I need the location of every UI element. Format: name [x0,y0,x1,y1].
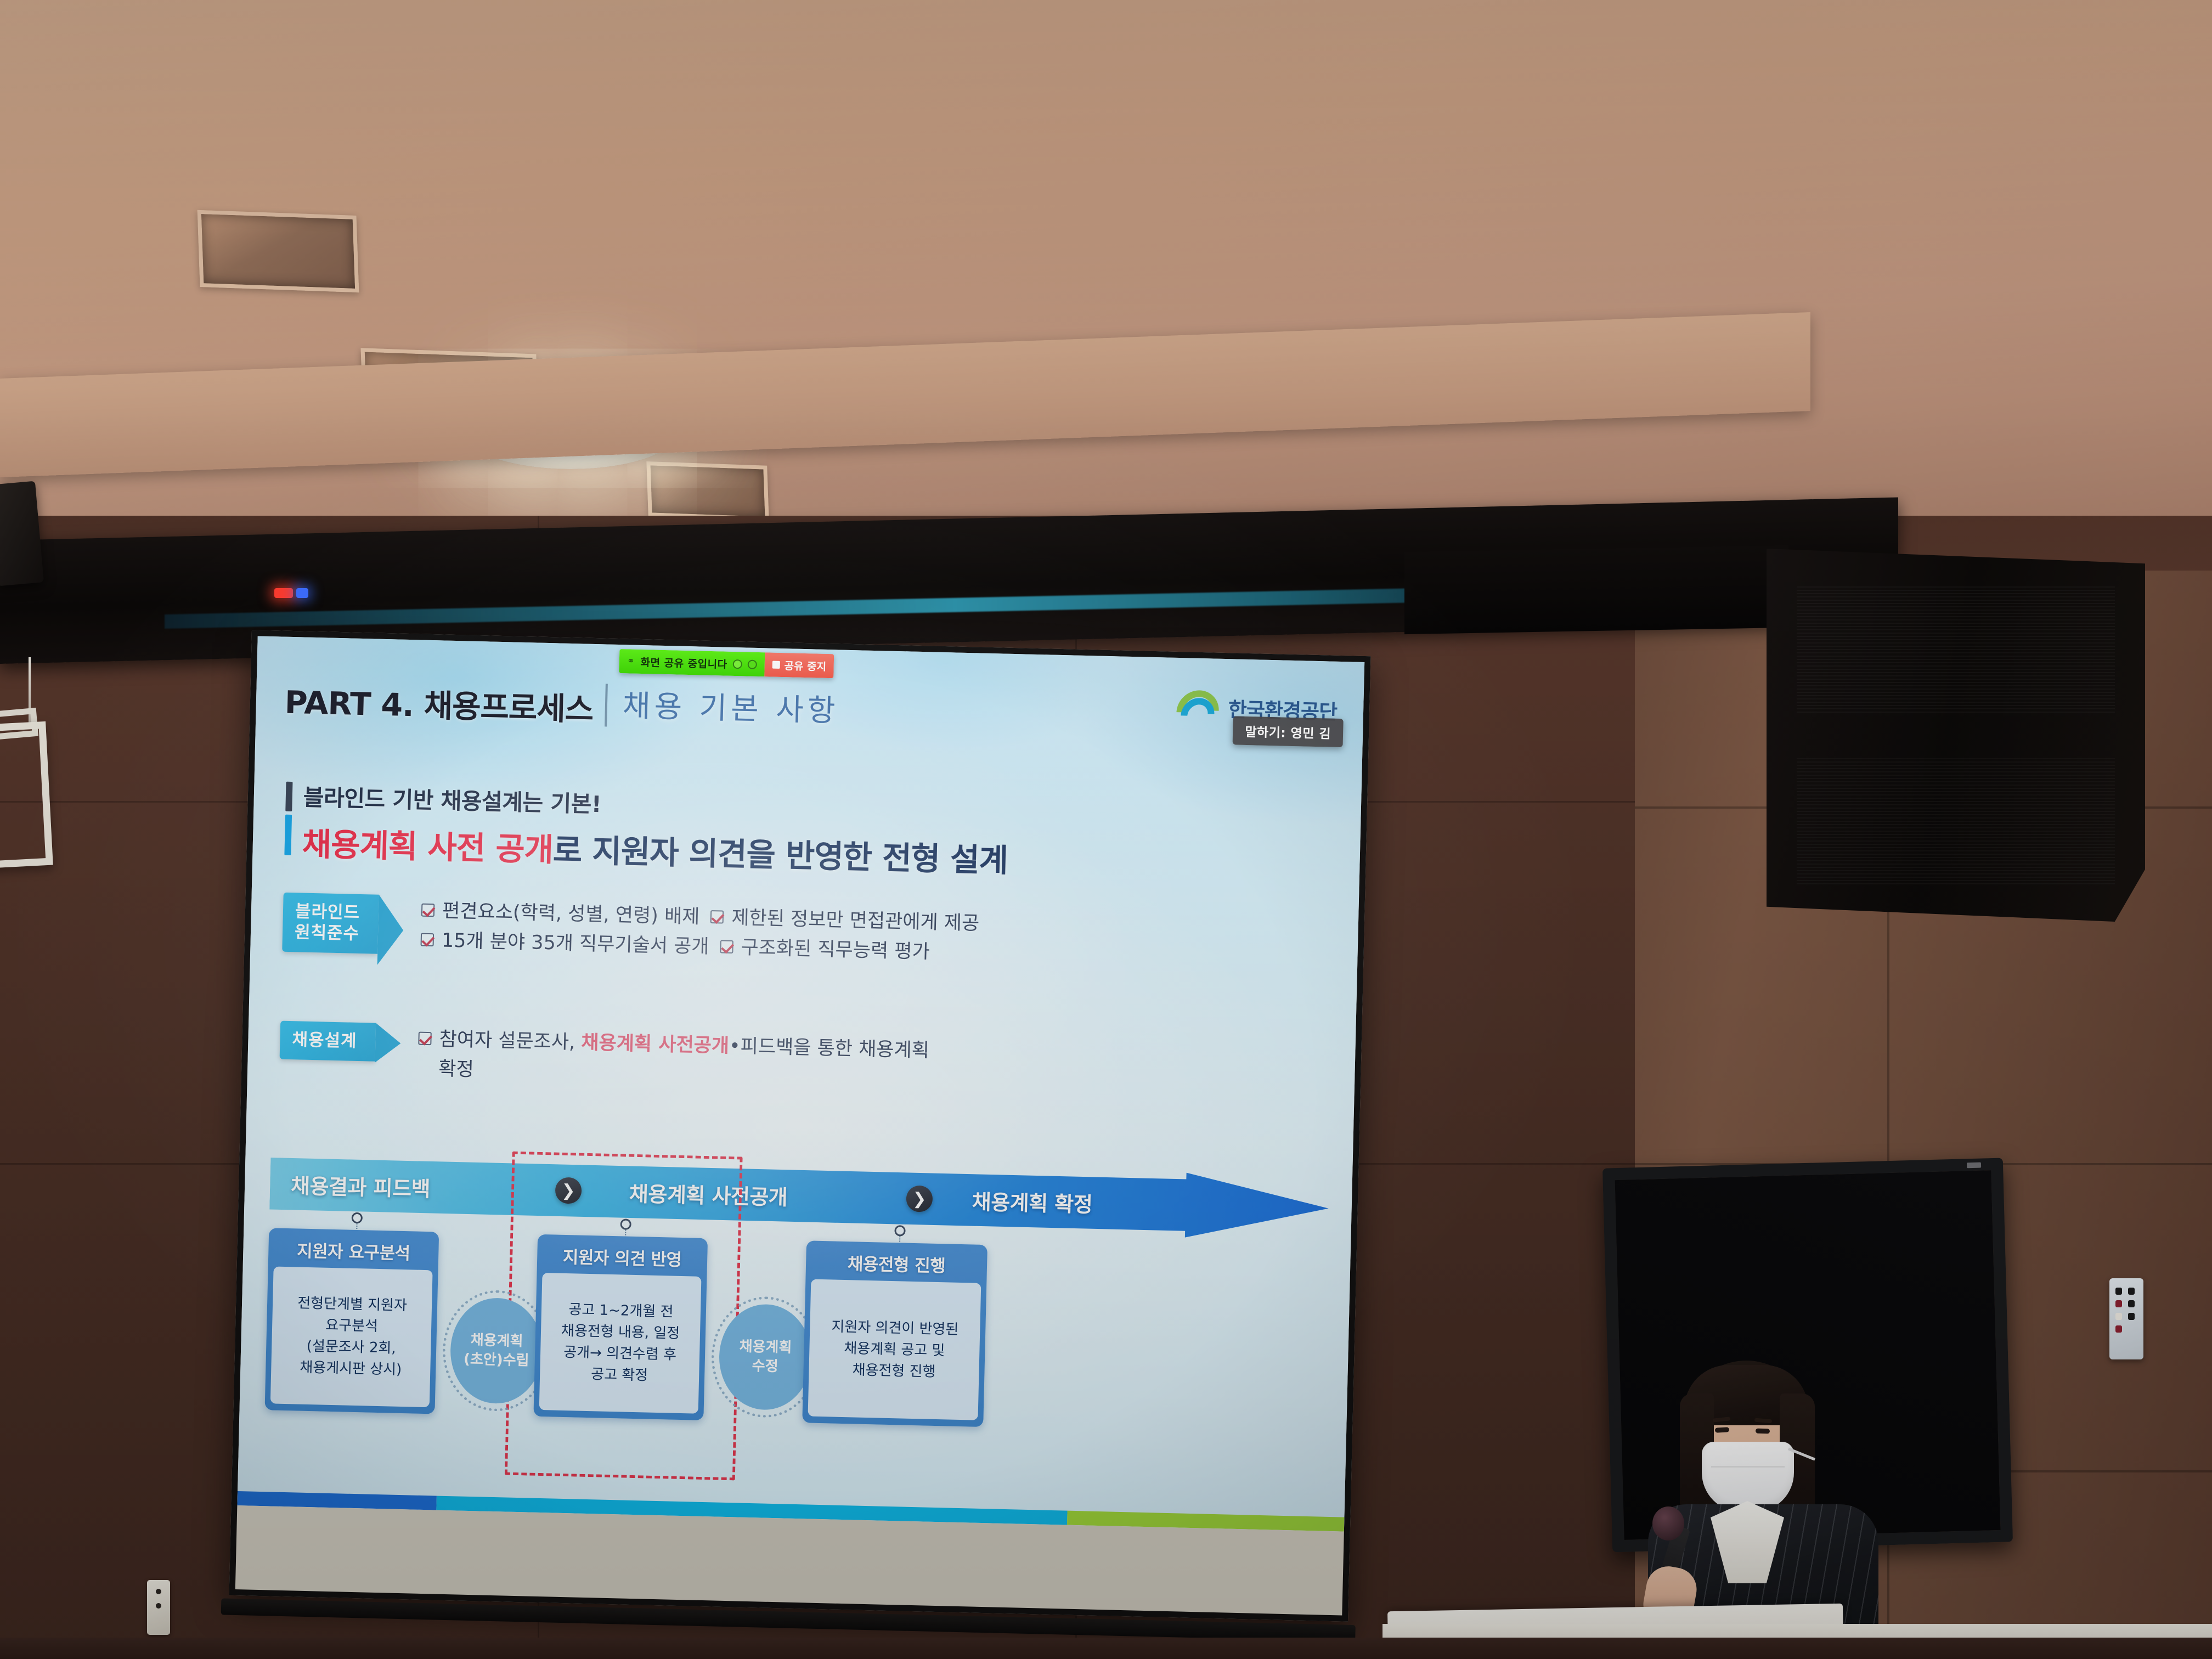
process-circle: 채용계획 수정 [718,1304,812,1411]
headline-highlight: 채용계획 사전 공개 [302,825,554,868]
share-indicator-icon [732,659,742,668]
checkbox-checked-icon [710,910,724,924]
headline-accent-bar [284,815,292,855]
card-line: (설문조사 2회, [276,1335,427,1360]
flow-node [352,1212,363,1223]
bullet-text-post: •피드백을 통한 채용계획 [729,1035,930,1062]
headline-main: 채용계획 사전 공개로 지원자 의견을 반영한 전형 설계 [302,818,1008,881]
av-jack-icon [2115,1288,2122,1295]
card-body: 전형단계별 지원자 요구분석 (설문조사 2회, 채용게시판 상시) [270,1266,433,1407]
projection-screen: ⚭ 화면 공유 중입니다 공유 중지 PART 4. 채용프로세스 채용 기본 … [229,630,1371,1622]
bullet-list-blind: 편견요소(학력, 성별, 연령) 배제 제한된 정보만 면접관에게 제공 15개… [420,896,980,968]
wall-av-outlet-plate[interactable] [2109,1278,2143,1359]
checkbox-checked-icon [418,1032,432,1046]
av-jack-icon [2115,1325,2122,1333]
share-status-pill: ⚭ 화면 공유 중입니다 [619,649,765,676]
floor [0,1638,2212,1659]
share-status-label: 화면 공유 중입니다 [640,654,727,671]
card-line: 채용게시판 상시) [275,1357,426,1381]
process-circle: 채용계획 (초안)수립 [449,1297,544,1404]
title-divider [605,684,608,726]
stop-share-button[interactable]: 공유 중지 [764,652,834,678]
av-jack-icon [2128,1288,2135,1295]
presentation-slide: ⚭ 화면 공유 중입니다 공유 중지 PART 4. 채용프로세스 채용 기본 … [237,636,1364,1531]
conference-room-scene: ⚭ 화면 공유 중입니다 공유 중지 PART 4. 채용프로세스 채용 기본 … [0,0,2212,1659]
card-line: 채용계획 공고 및 [814,1337,975,1362]
headline-rest: 로 지원자 의견을 반영한 전형 설계 [552,831,1008,879]
card-body: 공고 1~2개월 전 채용전형 내용, 일정 공개→ 의견수렴 후 공고 확정 [539,1273,702,1414]
checkbox-checked-icon [421,904,435,917]
card-title: 지원자 의견 반영 [543,1240,702,1277]
card-line: 전형단계별 지원자 [277,1293,428,1317]
wall-power-outlet[interactable] [147,1580,170,1635]
detail-card: 지원자 요구분석 전형단계별 지원자 요구분석 (설문조사 2회, 채용게시판 … [265,1228,439,1414]
section-tag-design: 채용설계 [280,1021,376,1062]
card-line: 요구분석 [276,1314,427,1339]
hanging-frame [0,721,53,868]
projector-housing [1404,545,1788,634]
microphone-icon: ⚭ [627,656,635,667]
presenter-eye [1756,1429,1770,1434]
card-line: 지원자 의견이 반영된 [814,1316,976,1341]
bullet-text: 구조화된 직무능력 평가 [741,933,930,967]
card-line: 채용전형 진행 [813,1358,975,1384]
microphone-head-icon [1652,1506,1684,1541]
share-pause-icon[interactable] [747,659,757,669]
speaker-grill [1797,586,2115,713]
flow-stage-label-3: 채용계획 확정 [972,1185,1093,1218]
bullet-text: 확정 [438,1054,475,1085]
bullet-text-pre: 참여자 설문조사, [439,1028,582,1053]
logo-arc-icon [1172,690,1223,725]
speaker-grill [1797,758,2115,884]
av-jack-icon [2128,1313,2135,1320]
slide-subtitle: 채용 기본 사항 [622,681,839,730]
headline-block: 블라인드 기반 채용설계는 기본! 채용계획 사전 공개로 지원자 의견을 반영… [284,778,1009,881]
card-line: 공고 확정 [544,1363,695,1387]
headline-accent-bar [285,782,292,811]
detail-card: 채용전형 진행 지원자 의견이 반영된 채용계획 공고 및 채용전형 진행 [802,1240,988,1427]
presenter-eye [1715,1427,1729,1432]
detail-cards: 지원자 요구분석 전형단계별 지원자 요구분석 (설문조사 2회, 채용게시판 … [263,1228,1328,1494]
status-led-red [274,588,293,598]
speaker-right [1767,549,2145,922]
flow-node [894,1225,905,1236]
monitor-power-led [1967,1163,1981,1169]
process-flow-arrow: 채용결과 피드백 ❯ 채용계획 사전공개 ❯ 채용계획 확정 [269,1151,1329,1240]
card-line: 채용전형 내용, 일정 [545,1320,696,1345]
bullet-text: 15개 분야 35개 직무기술서 공개 [441,926,709,962]
tag-line-1: 채용설계 [292,1030,357,1052]
checkbox-checked-icon [720,940,733,954]
screen-share-bar[interactable]: ⚭ 화면 공유 중입니다 공유 중지 [619,649,834,678]
card-body: 지원자 의견이 반영된 채용계획 공고 및 채용전형 진행 [808,1279,981,1420]
detail-card: 지원자 의견 반영 공고 1~2개월 전 채용전형 내용, 일정 공개→ 의견수… [533,1234,708,1420]
bullet-text-highlight: 채용계획 사전공개 [581,1032,730,1057]
section-blind-principles: 블라인드 원칙준수 편견요소(학력, 성별, 연령) 배제 제한된 정보만 면접… [282,893,980,968]
section-recruitment-design: 채용설계 참여자 설문조사, 채용계획 사전공개•피드백을 통한 채용계획 확정 [279,1021,930,1096]
flow-stage-label-1: 채용결과 피드백 [291,1169,431,1203]
card-title: 채용전형 진행 [811,1246,981,1283]
card-line: 공고 1~2개월 전 [546,1299,697,1323]
ceiling-vent-icon [198,210,359,292]
card-line: 공개→ 의견수렴 후 [545,1341,696,1366]
active-speaker-badge: 말하기: 영민 김 [1233,716,1344,747]
status-led-blue [296,588,308,598]
ceiling-vent-icon [646,461,769,521]
av-jack-icon [2115,1300,2122,1307]
stop-square-icon [772,661,780,669]
bullet-list-design: 참여자 설문조사, 채용계획 사전공개•피드백을 통한 채용계획 확정 [417,1024,930,1096]
av-jack-icon [2115,1313,2122,1320]
checkbox-checked-icon [421,933,435,947]
stop-share-label: 공유 중지 [784,658,826,674]
av-jack-icon [2128,1300,2135,1307]
card-title: 지원자 요구분석 [274,1233,433,1270]
section-tag-blind: 블라인드 원칙준수 [282,893,379,954]
tag-line-2: 원칙준수 [295,922,360,945]
page-title: PART 4. 채용프로세스 [284,678,594,730]
tag-line-1: 블라인드 [295,901,360,924]
